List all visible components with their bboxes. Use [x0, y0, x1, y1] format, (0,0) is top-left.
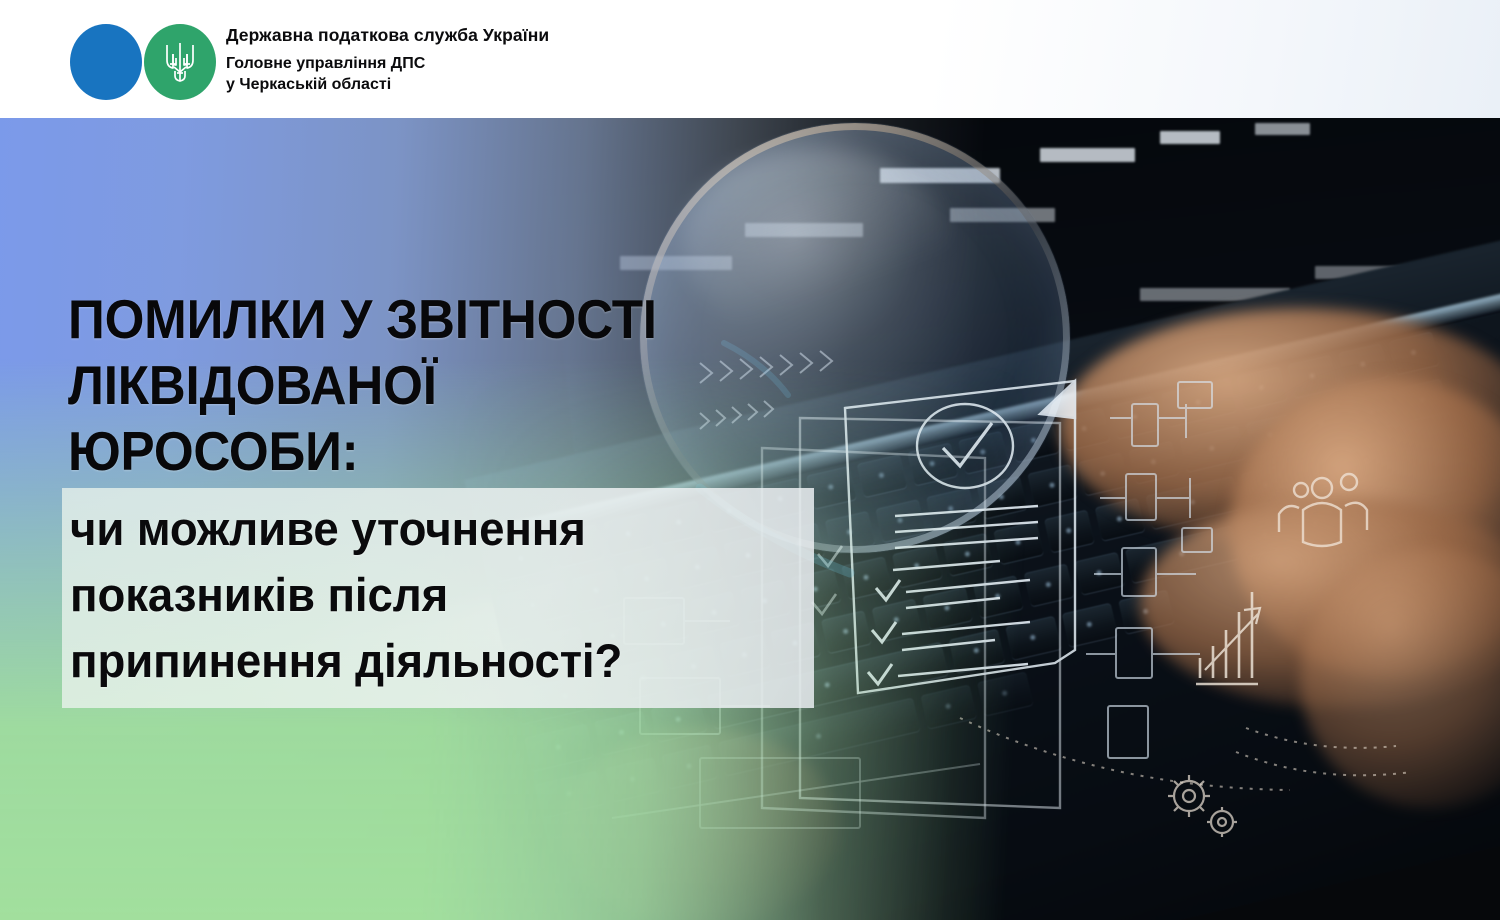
header-bar: Державна податкова служба України Головн… [0, 0, 1500, 118]
ukrainian-trident-icon [162, 40, 198, 84]
headline-line-2: ЛІКВІДОВАНОЇ [68, 352, 657, 418]
logo-circle-blue [70, 24, 142, 100]
org-text-block: Державна податкова служба України Головн… [226, 24, 549, 95]
banner-stage: Державна податкова служба України Головн… [0, 0, 1500, 920]
subhead-line-3: припинення діяльності? [70, 628, 622, 694]
bar-chart-icon [1196, 592, 1260, 684]
org-name: Державна податкова служба України [226, 24, 549, 46]
user-group-icon [1279, 474, 1367, 546]
logo [70, 24, 216, 100]
subhead-line-2: показників після [70, 562, 622, 628]
department-line-2: у Черкаській області [226, 74, 549, 95]
headline-line-3: ЮРОСОБИ: [68, 418, 657, 484]
department-line-1: Головне управління ДПС [226, 53, 549, 74]
subhead-line-1: чи можливе уточнення [70, 496, 622, 562]
subhead: чи можливе уточнення показників після пр… [70, 496, 622, 694]
headline-line-1: ПОМИЛКИ У ЗВІТНОСТІ [68, 286, 657, 352]
headline: ПОМИЛКИ У ЗВІТНОСТІ ЛІКВІДОВАНОЇ ЮРОСОБИ… [68, 286, 657, 484]
